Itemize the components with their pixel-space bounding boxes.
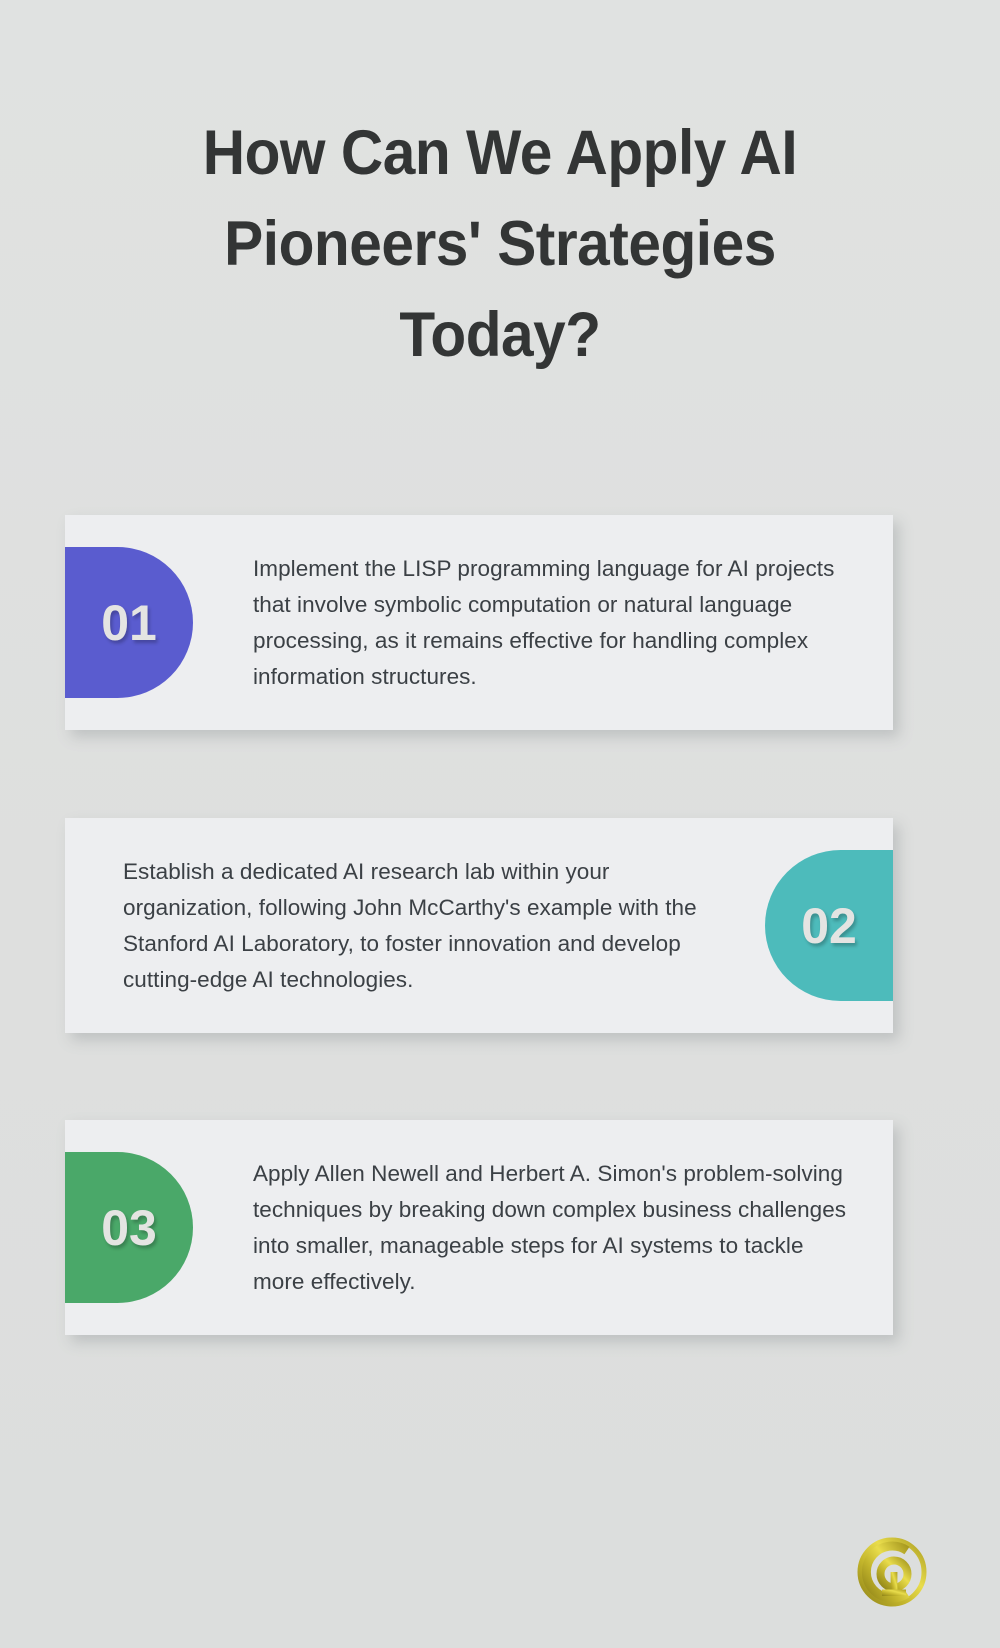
tip-text-03: Apply Allen Newell and Herbert A. Simon'… (193, 1156, 893, 1300)
tip-card-02: 02 Establish a dedicated AI research lab… (65, 818, 893, 1033)
tip-text-02: Establish a dedicated AI research lab wi… (65, 854, 765, 998)
title-line-3: Today? (119, 290, 882, 381)
tip-card-03: 03 Apply Allen Newell and Herbert A. Sim… (65, 1120, 893, 1335)
brand-logo-icon (856, 1536, 928, 1608)
title-line-1: How Can We Apply AI (119, 108, 882, 199)
tip-text-01: Implement the LISP programming language … (193, 551, 893, 695)
badge-number-label: 03 (101, 1203, 157, 1253)
page-title: How Can We Apply AI Pioneers' Strategies… (90, 108, 910, 381)
number-badge-01: 01 (65, 547, 193, 698)
title-line-2: Pioneers' Strategies (119, 199, 882, 290)
number-badge-02: 02 (765, 850, 893, 1001)
badge-number-label: 02 (801, 901, 857, 951)
tip-card-01: 01 Implement the LISP programming langua… (65, 515, 893, 730)
infographic-poster: How Can We Apply AI Pioneers' Strategies… (0, 0, 1000, 1648)
number-badge-03: 03 (65, 1152, 193, 1303)
badge-number-label: 01 (101, 598, 157, 648)
